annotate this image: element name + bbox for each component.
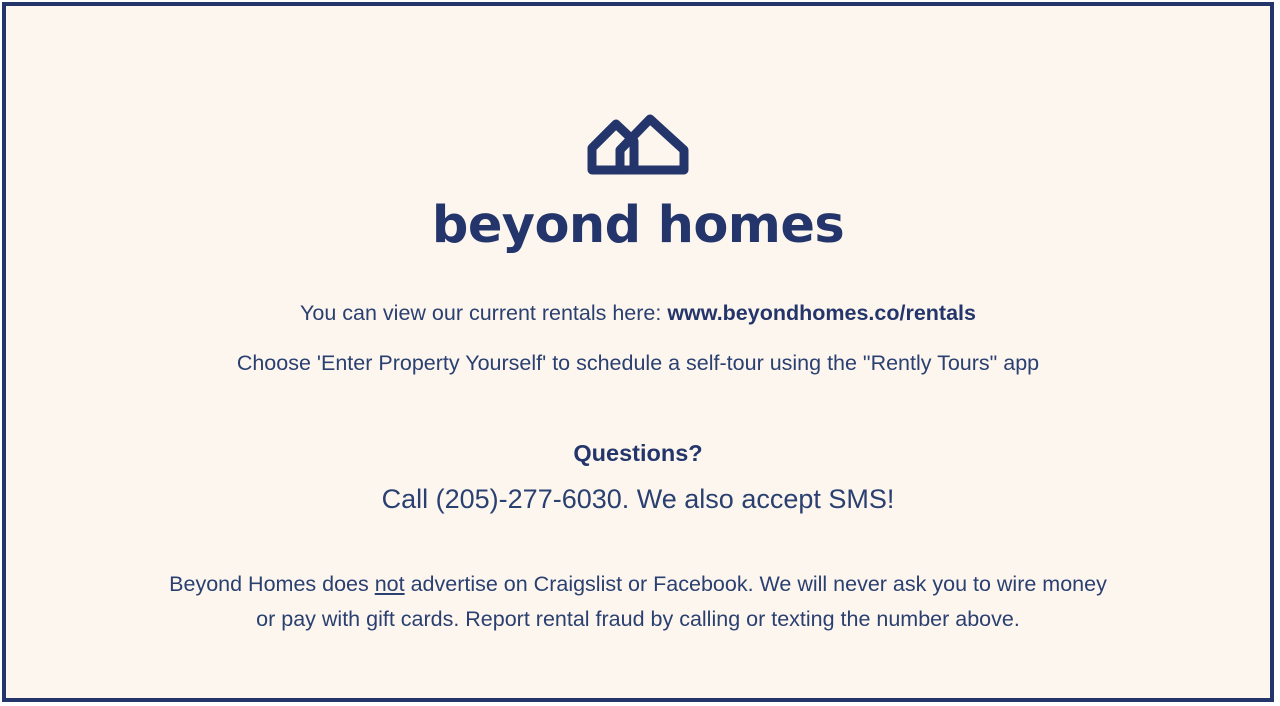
rentals-url[interactable]: www.beyondhomes.co/rentals [667, 301, 976, 325]
instructions-line: Choose 'Enter Property Yourself' to sche… [6, 351, 1270, 377]
flyer-card: beyond homes You can view our current re… [2, 2, 1274, 702]
two-houses-icon [586, 110, 690, 176]
fraud-notice: Beyond Homes does not advertise on Craig… [168, 567, 1108, 636]
body-copy: You can view our current rentals here: w… [6, 251, 1270, 636]
fraud-notice-emphasis: not [375, 572, 405, 596]
brand-wordmark: beyond homes [432, 200, 844, 251]
rentals-line: You can view our current rentals here: w… [6, 301, 1270, 327]
fraud-notice-part1: Beyond Homes does [169, 572, 375, 596]
questions-heading: Questions? [6, 439, 1270, 467]
rentals-line-prefix: You can view our current rentals here: [300, 301, 667, 325]
call-line: Call (205)-277-6030. We also accept SMS! [6, 483, 1270, 515]
